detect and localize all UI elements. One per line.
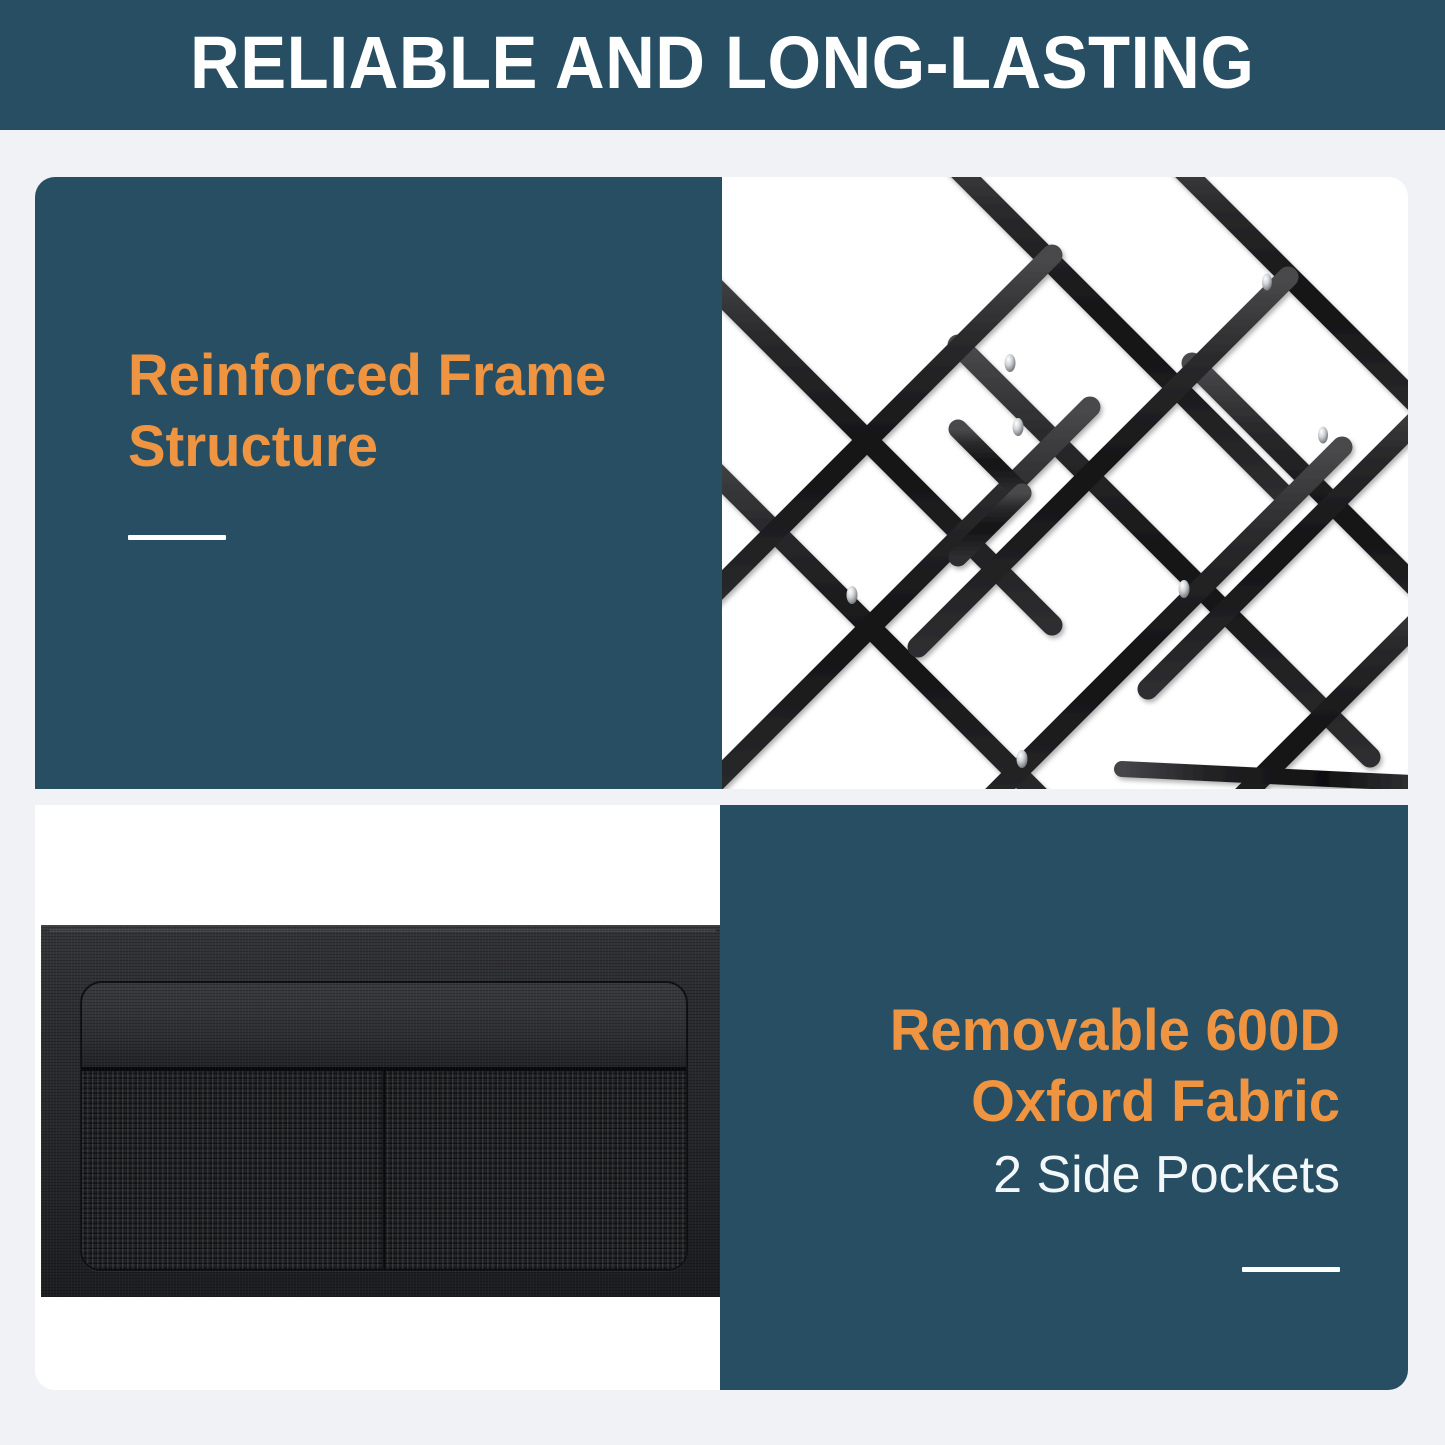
feature-row-top: Reinforced Frame Structure <box>35 177 1408 789</box>
feature-heading-reinforced-frame: Reinforced Frame Structure <box>128 340 652 483</box>
accent-rule-bottom-right <box>1242 1267 1340 1272</box>
text-block-reinforced-frame: Reinforced Frame Structure <box>128 340 668 540</box>
feature-card-grid: Reinforced Frame Structure <box>35 177 1408 1390</box>
page-title: RELIABLE AND LONG-LASTING <box>190 26 1254 104</box>
panel-fabric-photo <box>35 805 720 1390</box>
panel-reinforced-frame: Reinforced Frame Structure <box>35 177 722 789</box>
fabric-top-seam <box>49 929 716 932</box>
pocket-flap <box>82 983 686 1071</box>
pocket-divider <box>383 1071 386 1269</box>
oxford-fabric-photo <box>35 805 720 1390</box>
text-block-removable-fabric: Removable 600D Oxford Fabric 2 Side Pock… <box>780 995 1340 1272</box>
side-pocket-assembly <box>80 981 688 1271</box>
panel-removable-fabric: Removable 600D Oxford Fabric 2 Side Pock… <box>720 805 1408 1390</box>
fabric-panel-body <box>41 925 720 1297</box>
feature-row-bottom: Removable 600D Oxford Fabric 2 Side Pock… <box>35 805 1408 1390</box>
header-banner: RELIABLE AND LONG-LASTING <box>0 0 1445 130</box>
scissor-frame-photo <box>722 177 1408 789</box>
feature-subtext-side-pockets: 2 Side Pockets <box>780 1144 1340 1207</box>
panel-frame-photo <box>722 177 1408 789</box>
accent-rule-top-left <box>128 535 226 540</box>
feature-heading-removable-fabric: Removable 600D Oxford Fabric <box>797 995 1340 1138</box>
